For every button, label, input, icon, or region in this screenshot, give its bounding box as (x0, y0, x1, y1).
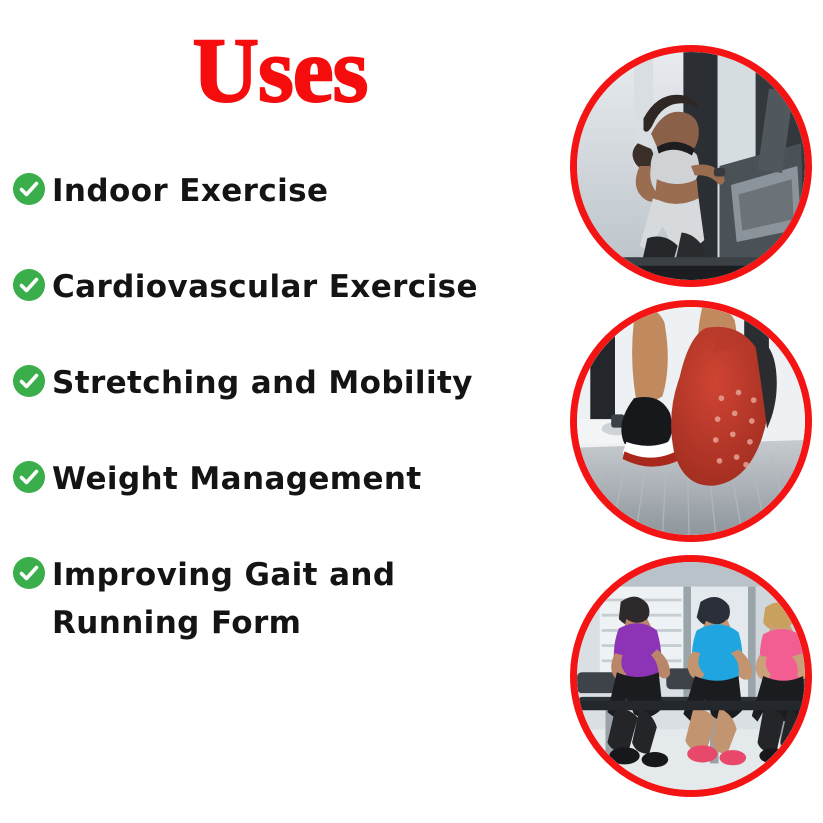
green-check-circle-icon (12, 364, 46, 398)
photo-image (577, 307, 805, 535)
list-item-label: Indoor Exercise (52, 168, 328, 215)
list-item-label: Weight Management (52, 456, 422, 503)
list-item: Cardiovascular Exercise (12, 264, 560, 311)
photo-group-on-treadmills (570, 555, 812, 797)
list-item-label: Stretching and Mobility (52, 360, 473, 407)
list-item: Improving Gait and Running Form (12, 552, 560, 646)
list-item-label: Improving Gait and Running Form (52, 552, 395, 646)
page-title: Uses (0, 24, 560, 116)
list-item: Weight Management (12, 456, 560, 503)
green-check-circle-icon (12, 172, 46, 206)
uses-list: Indoor Exercise Cardiovascular Exercise … (12, 168, 560, 647)
green-check-circle-icon (12, 556, 46, 590)
photo-running-shoe-sole-closeup (570, 300, 812, 542)
green-check-circle-icon (12, 460, 46, 494)
photo-image (577, 562, 805, 790)
list-item: Indoor Exercise (12, 168, 560, 215)
photo-image (577, 52, 805, 280)
list-item-label: Cardiovascular Exercise (52, 264, 478, 311)
uses-infographic-page: Uses Indoor Exercise Cardiovascular Exer… (0, 0, 823, 823)
list-item: Stretching and Mobility (12, 360, 560, 407)
photo-treadmill-woman-running (570, 45, 812, 287)
green-check-circle-icon (12, 268, 46, 302)
